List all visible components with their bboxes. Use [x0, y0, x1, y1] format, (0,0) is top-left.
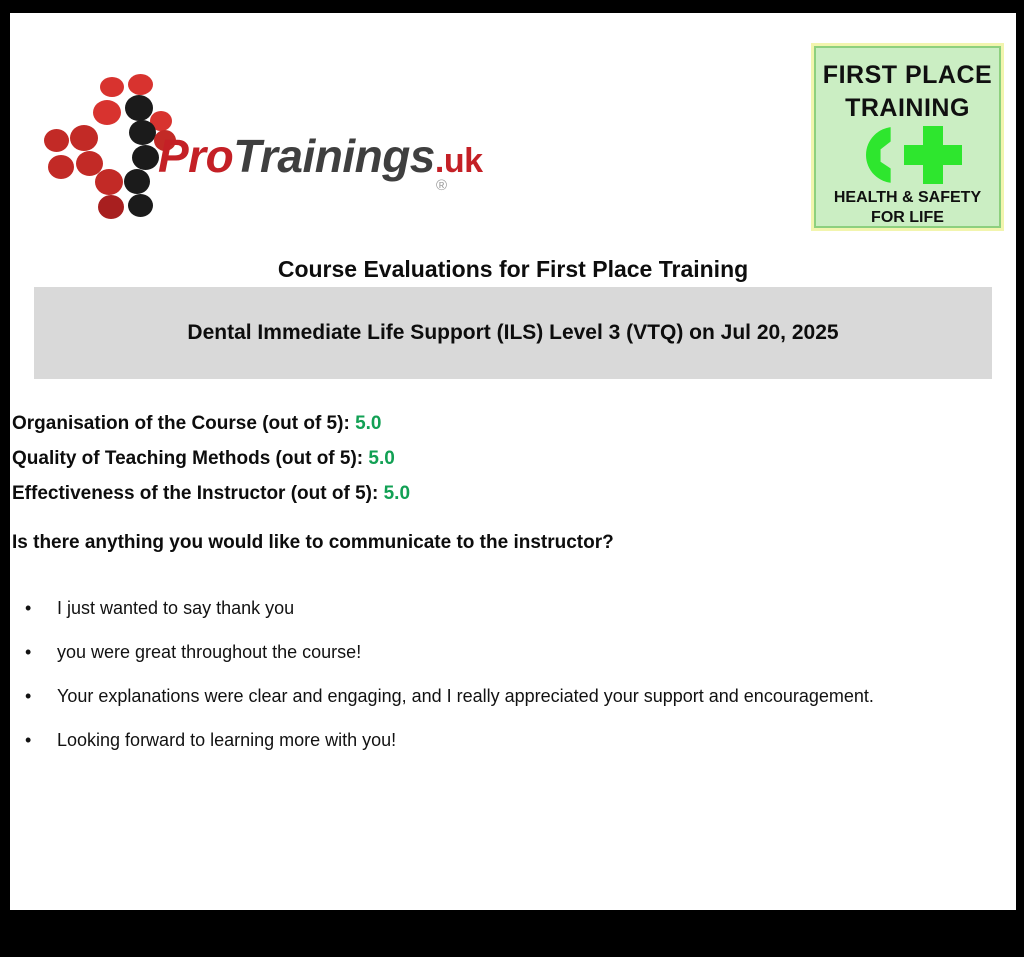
list-item: • I just wanted to say thank you	[12, 595, 1012, 621]
badge-line-4: FOR LIFE	[816, 209, 999, 227]
comment-text: you were great throughout the course!	[57, 642, 361, 662]
badge-line-2: TRAINING	[816, 94, 999, 123]
rating-label: Quality of Teaching Methods (out of 5):	[12, 448, 363, 469]
bullet-icon: •	[25, 595, 31, 621]
protrainings-word-main: Trainings	[233, 130, 435, 182]
bullet-icon: •	[25, 683, 31, 709]
list-item: • you were great throughout the course!	[12, 639, 1012, 665]
bullet-icon: •	[25, 639, 31, 665]
ratings-list: Organisation of the Course (out of 5): 5…	[12, 413, 972, 518]
course-info-text: Dental Immediate Life Support (ILS) Leve…	[187, 321, 838, 345]
rating-value: 5.0	[355, 413, 381, 434]
registered-trademark-icon: ®	[436, 177, 447, 194]
badge-line-3: HEALTH & SAFETY	[816, 189, 999, 207]
comment-text: Looking forward to learning more with yo…	[57, 730, 396, 750]
protrainings-wordmark: ProTrainings.uk®	[158, 129, 483, 183]
badge-line-1: FIRST PLACE	[816, 61, 999, 90]
green-cross-icon	[904, 126, 962, 184]
document-page: ProTrainings.uk® FIRST PLACE TRAINING HE…	[10, 13, 1016, 910]
list-item: • Your explanations were clear and engag…	[12, 683, 1012, 709]
rating-row: Organisation of the Course (out of 5): 5…	[12, 413, 972, 435]
comment-text: Your explanations were clear and engagin…	[57, 686, 874, 706]
page-title: Course Evaluations for First Place Train…	[10, 256, 1016, 283]
protrainings-word-pro: Pro	[158, 130, 233, 182]
feedback-comments-list: • I just wanted to say thank you • you w…	[12, 595, 1012, 771]
feedback-question: Is there anything you would like to comm…	[12, 532, 614, 554]
protrainings-word-tld: .uk	[435, 142, 483, 180]
rating-label: Organisation of the Course (out of 5):	[12, 413, 350, 434]
rating-row: Quality of Teaching Methods (out of 5): …	[12, 448, 972, 470]
list-item: • Looking forward to learning more with …	[12, 727, 1012, 753]
rating-row: Effectiveness of the Instructor (out of …	[12, 483, 972, 505]
first-place-training-badge: FIRST PLACE TRAINING HEALTH & SAFETY FOR…	[811, 43, 1004, 231]
bullet-icon: •	[25, 727, 31, 753]
protrainings-logo: ProTrainings.uk®	[40, 73, 440, 213]
rating-value: 5.0	[384, 483, 410, 504]
comment-text: I just wanted to say thank you	[57, 598, 294, 618]
rating-label: Effectiveness of the Instructor (out of …	[12, 483, 378, 504]
rating-value: 5.0	[368, 448, 394, 469]
course-info-band: Dental Immediate Life Support (ILS) Leve…	[34, 287, 992, 379]
